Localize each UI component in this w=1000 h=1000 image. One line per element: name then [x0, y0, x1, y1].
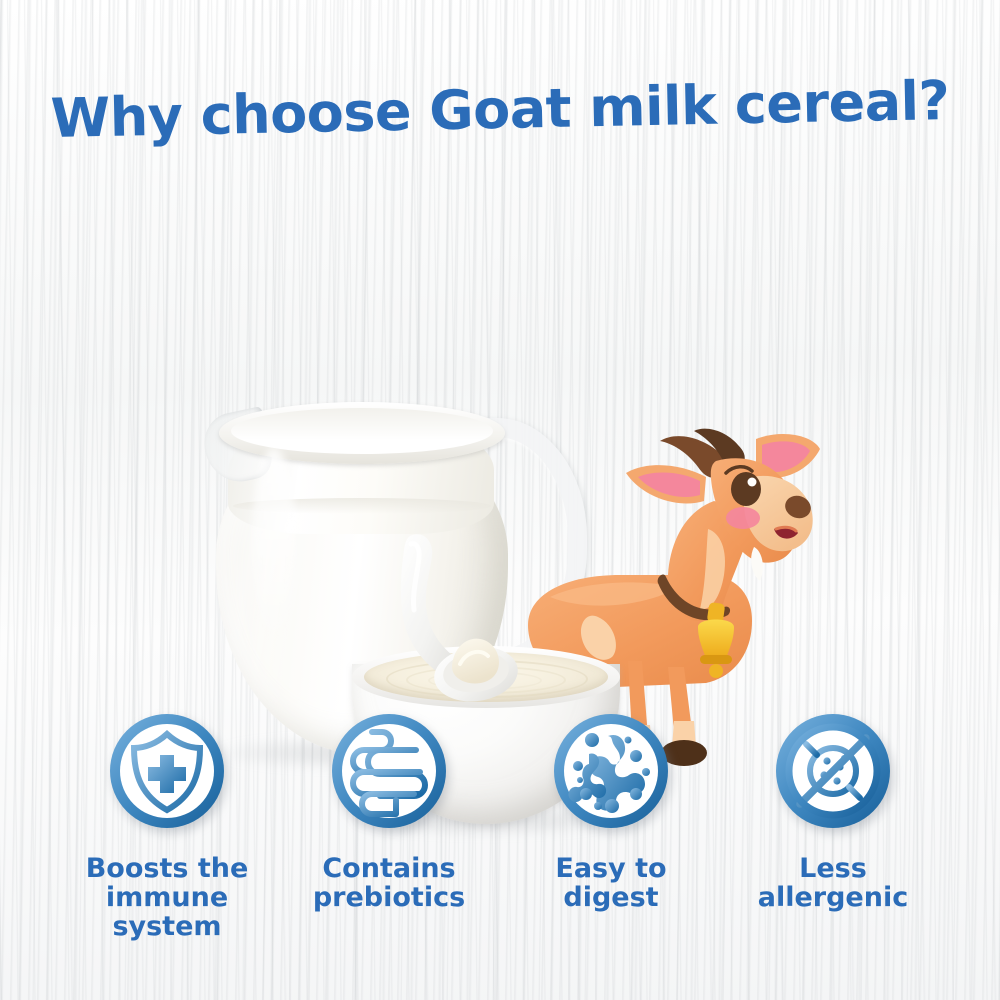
- feature-label: Easy to digest: [555, 854, 666, 912]
- spoon: [380, 532, 520, 710]
- pitcher-highlight: [252, 448, 296, 638]
- feature-item[interactable]: Contains prebiotics: [294, 710, 484, 960]
- pitcher-rim-inner: [231, 408, 493, 454]
- feature-item[interactable]: Easy to digest: [516, 710, 706, 960]
- feature-label: Boosts the immune system: [72, 854, 262, 941]
- feature-item[interactable]: Less allergenic: [738, 710, 928, 960]
- hero-illustration-group: [0, 180, 1000, 680]
- shield-cross-icon[interactable]: [106, 710, 228, 832]
- bacteria-blob-icon[interactable]: [550, 710, 672, 832]
- features-row: Boosts the immune system: [0, 710, 1000, 960]
- poster-canvas: Why choose Goat milk cereal?: [0, 0, 1000, 1000]
- page-title: Why choose Goat milk cereal?: [0, 68, 1000, 151]
- feature-label: Contains prebiotics: [313, 854, 465, 912]
- feature-item[interactable]: Boosts the immune system: [72, 710, 262, 960]
- no-virus-icon[interactable]: [772, 710, 894, 832]
- feature-label: Less allergenic: [758, 854, 908, 912]
- intestine-icon[interactable]: [328, 710, 450, 832]
